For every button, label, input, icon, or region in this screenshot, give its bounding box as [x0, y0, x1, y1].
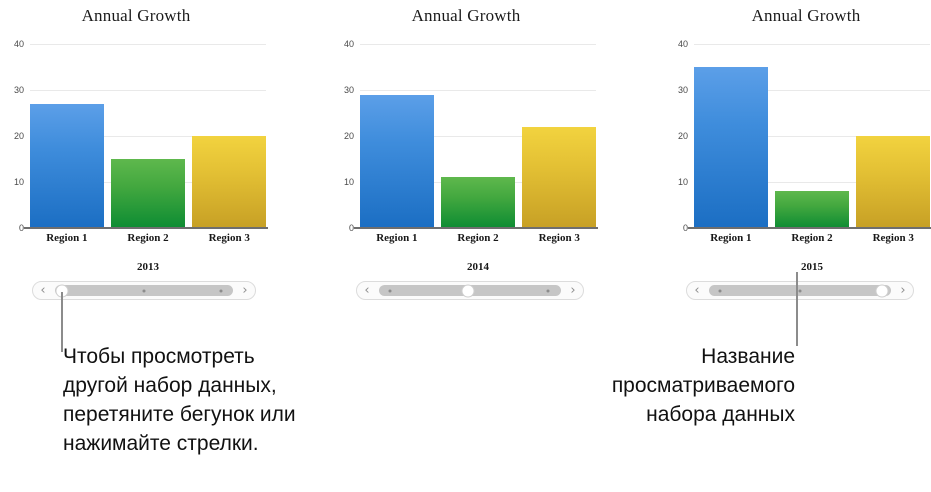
slider-step-dot[interactable]: [143, 289, 146, 292]
chart-panel-2014: Annual Growth 40 30 20 10 0: [322, 0, 622, 310]
slider-thumb[interactable]: [875, 284, 888, 297]
data-set-slider[interactable]: ‹ ›: [32, 281, 256, 300]
slider-step-dot[interactable]: [219, 289, 222, 292]
figure-canvas: Annual Growth 40 30 20 10 0: [0, 0, 931, 492]
bar-region-1: [360, 95, 434, 228]
y-tick-label: 30: [678, 85, 688, 95]
bar-region-2: [441, 177, 515, 228]
chart-title: Annual Growth: [316, 6, 616, 26]
x-label-region-2: Region 2: [441, 232, 515, 244]
x-axis-labels: Region 1 Region 2 Region 3: [694, 232, 930, 244]
bar-slot-region-3: [192, 44, 266, 228]
bar-slot-region-2: [111, 44, 185, 228]
slider-step-dot[interactable]: [547, 289, 550, 292]
x-label-region-2: Region 2: [111, 232, 185, 244]
x-label-region-3: Region 3: [856, 232, 930, 244]
plot-area: 40 30 20 10 0: [694, 44, 930, 228]
y-tick-label: 20: [678, 131, 688, 141]
bar-slot-region-3: [522, 44, 596, 228]
x-label-region-2: Region 2: [775, 232, 849, 244]
slider-track[interactable]: [709, 285, 891, 296]
chevron-right-icon[interactable]: ›: [893, 284, 913, 297]
bar-group: [360, 44, 596, 228]
chart-title: Annual Growth: [656, 6, 931, 26]
y-tick-label: 10: [678, 177, 688, 187]
x-label-region-1: Region 1: [694, 232, 768, 244]
data-set-name: 2014: [360, 261, 596, 273]
plot-area: 40 30 20 10 0: [360, 44, 596, 228]
bar-slot-region-1: [30, 44, 104, 228]
y-tick-label: 40: [14, 39, 24, 49]
x-axis-line: [24, 227, 268, 229]
chevron-right-icon[interactable]: ›: [563, 284, 583, 297]
chart-panel-2015: Annual Growth 40 30 20 10 0: [650, 0, 931, 310]
y-tick-label: 30: [344, 85, 354, 95]
slider-thumb[interactable]: [462, 284, 475, 297]
slider-step-dot[interactable]: [799, 289, 802, 292]
y-tick-label: 20: [344, 131, 354, 141]
chart-panel-2013: Annual Growth 40 30 20 10 0: [0, 0, 300, 310]
x-label-region-1: Region 1: [30, 232, 104, 244]
slider-track[interactable]: [55, 285, 233, 296]
x-label-region-3: Region 3: [522, 232, 596, 244]
chevron-left-icon[interactable]: ‹: [33, 284, 53, 297]
bar-slot-region-3: [856, 44, 930, 228]
bar-slot-region-1: [694, 44, 768, 228]
callout-text-data-set-name: Название просматриваемого набора данных: [505, 342, 795, 429]
bar-group: [694, 44, 930, 228]
bar-region-3: [522, 127, 596, 228]
y-tick-label: 40: [678, 39, 688, 49]
chevron-left-icon[interactable]: ‹: [687, 284, 707, 297]
x-label-region-1: Region 1: [360, 232, 434, 244]
y-tick-label: 30: [14, 85, 24, 95]
y-tick-label: 20: [14, 131, 24, 141]
x-axis-line: [688, 227, 931, 229]
bar-region-2: [775, 191, 849, 228]
data-set-slider[interactable]: ‹ ›: [686, 281, 914, 300]
slider-step-dot[interactable]: [718, 289, 721, 292]
data-set-name: 2013: [30, 261, 266, 273]
bar-slot-region-2: [441, 44, 515, 228]
bar-region-3: [192, 136, 266, 228]
x-label-region-3: Region 3: [192, 232, 266, 244]
chevron-left-icon[interactable]: ‹: [357, 284, 377, 297]
chevron-right-icon[interactable]: ›: [235, 284, 255, 297]
bar-slot-region-2: [775, 44, 849, 228]
data-set-slider[interactable]: ‹ ›: [356, 281, 584, 300]
bar-slot-region-1: [360, 44, 434, 228]
data-set-name: 2015: [694, 261, 930, 273]
plot-area: 40 30 20 10 0: [30, 44, 266, 228]
x-axis-labels: Region 1 Region 2 Region 3: [30, 232, 266, 244]
bar-group: [30, 44, 266, 228]
chart-title: Annual Growth: [0, 6, 286, 26]
y-tick-label: 10: [344, 177, 354, 187]
x-axis-labels: Region 1 Region 2 Region 3: [360, 232, 596, 244]
bar-region-3: [856, 136, 930, 228]
bar-region-1: [30, 104, 104, 228]
x-axis-line: [354, 227, 598, 229]
bar-region-1: [694, 67, 768, 228]
callout-leader-line-right: [796, 272, 798, 346]
callout-text-slider-instructions: Чтобы просмотреть другой набор данных, п…: [63, 342, 296, 458]
bar-region-2: [111, 159, 185, 228]
slider-track[interactable]: [379, 285, 561, 296]
y-tick-label: 40: [344, 39, 354, 49]
y-tick-label: 10: [14, 177, 24, 187]
slider-step-dot[interactable]: [388, 289, 391, 292]
